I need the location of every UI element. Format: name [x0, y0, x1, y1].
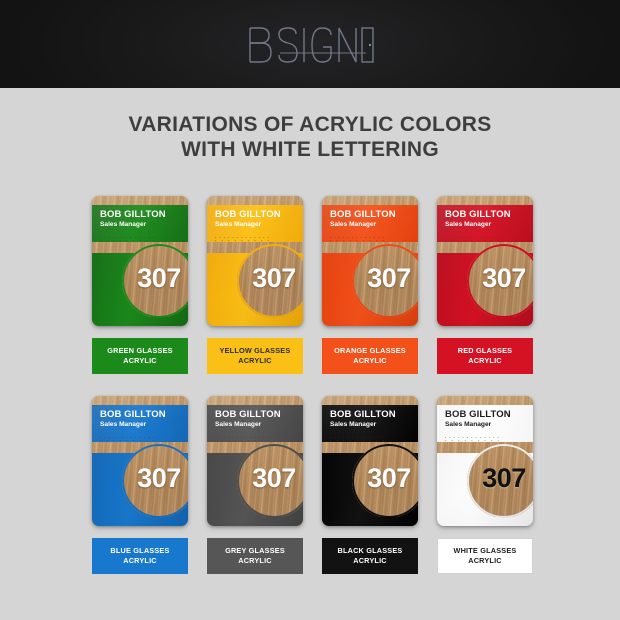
caption-line2: ACRYLIC: [468, 556, 502, 566]
sign-variation-white[interactable]: BOB GILLTONSales Manager307WHITE GLASSES…: [437, 396, 533, 574]
braille-strip-icon: [214, 236, 272, 242]
sign-variation-orange[interactable]: BOB GILLTONSales Manager307ORANGE GLASSE…: [322, 196, 418, 374]
braille-strip-icon: [329, 236, 387, 242]
sign-role-text: Sales Manager: [330, 421, 376, 429]
caption-line1: BLUE GLASSES: [110, 546, 169, 556]
sign-name-text: BOB GILLTON: [215, 409, 281, 420]
braille-strip-icon: [99, 236, 157, 242]
bsign-logo[interactable]: [244, 22, 376, 66]
sign-variation-blue[interactable]: BOB GILLTONSales Manager307BLUE GLASSESA…: [92, 396, 188, 574]
caption-line1: BLACK GLASSES: [337, 546, 402, 556]
sign-room-number: 307: [352, 263, 418, 293]
sign-role-text: Sales Manager: [445, 421, 491, 429]
caption-line1: RED GLASSES: [458, 346, 513, 356]
page-title-line2: WITH WHITE LETTERING: [0, 137, 620, 162]
sign-variation-grey[interactable]: BOB GILLTONSales Manager307GREY GLASSESA…: [207, 396, 303, 574]
variation-caption: GREY GLASSESACRYLIC: [207, 538, 303, 574]
sign-room-number: 307: [237, 463, 303, 493]
door-handle-icon: [369, 44, 371, 46]
braille-strip-icon: [214, 436, 272, 442]
site-header: [0, 0, 620, 88]
variation-caption: RED GLASSESACRYLIC: [437, 338, 533, 374]
sign-role-text: Sales Manager: [100, 221, 146, 229]
sign-role-text: Sales Manager: [445, 221, 491, 229]
bsign-logo-icon: [244, 22, 376, 66]
sign-name-text: BOB GILLTON: [330, 209, 396, 220]
sign-row: BOB GILLTONSales Manager307GREEN GLASSES…: [92, 196, 542, 374]
variation-caption: WHITE GLASSESACRYLIC: [437, 538, 533, 574]
door-sign-preview[interactable]: BOB GILLTONSales Manager307: [92, 196, 188, 326]
door-sign-preview[interactable]: BOB GILLTONSales Manager307: [437, 196, 533, 326]
sign-name-text: BOB GILLTON: [445, 409, 511, 420]
sign-room-number: 307: [467, 263, 533, 293]
caption-line1: YELLOW GLASSES: [220, 346, 291, 356]
door-sign-preview[interactable]: BOB GILLTONSales Manager307: [437, 396, 533, 526]
caption-line2: ACRYLIC: [353, 556, 387, 566]
caption-line1: GREY GLASSES: [225, 546, 285, 556]
sign-room-number: 307: [122, 263, 188, 293]
sign-name-text: BOB GILLTON: [215, 209, 281, 220]
sign-room-number: 307: [352, 463, 418, 493]
variation-caption: GREEN GLASSESACRYLIC: [92, 338, 188, 374]
braille-strip-icon: [329, 436, 387, 442]
door-sign-preview[interactable]: BOB GILLTONSales Manager307: [207, 196, 303, 326]
sign-name-text: BOB GILLTON: [330, 409, 396, 420]
caption-line2: ACRYLIC: [353, 356, 387, 366]
door-sign-preview[interactable]: BOB GILLTONSales Manager307: [322, 396, 418, 526]
sign-variation-black[interactable]: BOB GILLTONSales Manager307BLACK GLASSES…: [322, 396, 418, 574]
caption-line2: ACRYLIC: [238, 356, 272, 366]
braille-strip-icon: [444, 436, 502, 442]
sign-role-text: Sales Manager: [215, 421, 261, 429]
caption-line2: ACRYLIC: [123, 356, 157, 366]
door-sign-preview[interactable]: BOB GILLTONSales Manager307: [92, 396, 188, 526]
sign-row: BOB GILLTONSales Manager307BLUE GLASSESA…: [92, 396, 542, 574]
page-title-line1: VARIATIONS OF ACRYLIC COLORS: [0, 112, 620, 137]
sign-room-number: 307: [237, 263, 303, 293]
sign-variation-green[interactable]: BOB GILLTONSales Manager307GREEN GLASSES…: [92, 196, 188, 374]
door-sign-preview[interactable]: BOB GILLTONSales Manager307: [207, 396, 303, 526]
caption-line1: WHITE GLASSES: [453, 546, 516, 556]
sign-role-text: Sales Manager: [330, 221, 376, 229]
caption-line2: ACRYLIC: [238, 556, 272, 566]
braille-strip-icon: [444, 236, 502, 242]
caption-line1: ORANGE GLASSES: [334, 346, 406, 356]
door-sign-preview[interactable]: BOB GILLTONSales Manager307: [322, 196, 418, 326]
variation-caption: BLUE GLASSESACRYLIC: [92, 538, 188, 574]
sign-variation-yellow[interactable]: BOB GILLTONSales Manager307YELLOW GLASSE…: [207, 196, 303, 374]
page-title: VARIATIONS OF ACRYLIC COLORS WITH WHITE …: [0, 112, 620, 162]
sign-variations-grid: BOB GILLTONSales Manager307GREEN GLASSES…: [92, 196, 542, 596]
sign-name-text: BOB GILLTON: [100, 209, 166, 220]
sign-name-text: BOB GILLTON: [445, 209, 511, 220]
variation-caption: ORANGE GLASSESACRYLIC: [322, 338, 418, 374]
sign-room-number: 307: [122, 463, 188, 493]
sign-variation-red[interactable]: BOB GILLTONSales Manager307RED GLASSESAC…: [437, 196, 533, 374]
caption-line1: GREEN GLASSES: [107, 346, 172, 356]
caption-line2: ACRYLIC: [468, 356, 502, 366]
braille-strip-icon: [99, 436, 157, 442]
sign-role-text: Sales Manager: [215, 221, 261, 229]
caption-line2: ACRYLIC: [123, 556, 157, 566]
variation-caption: BLACK GLASSESACRYLIC: [322, 538, 418, 574]
sign-room-number: 307: [467, 463, 533, 493]
sign-role-text: Sales Manager: [100, 421, 146, 429]
sign-name-text: BOB GILLTON: [100, 409, 166, 420]
variation-caption: YELLOW GLASSESACRYLIC: [207, 338, 303, 374]
